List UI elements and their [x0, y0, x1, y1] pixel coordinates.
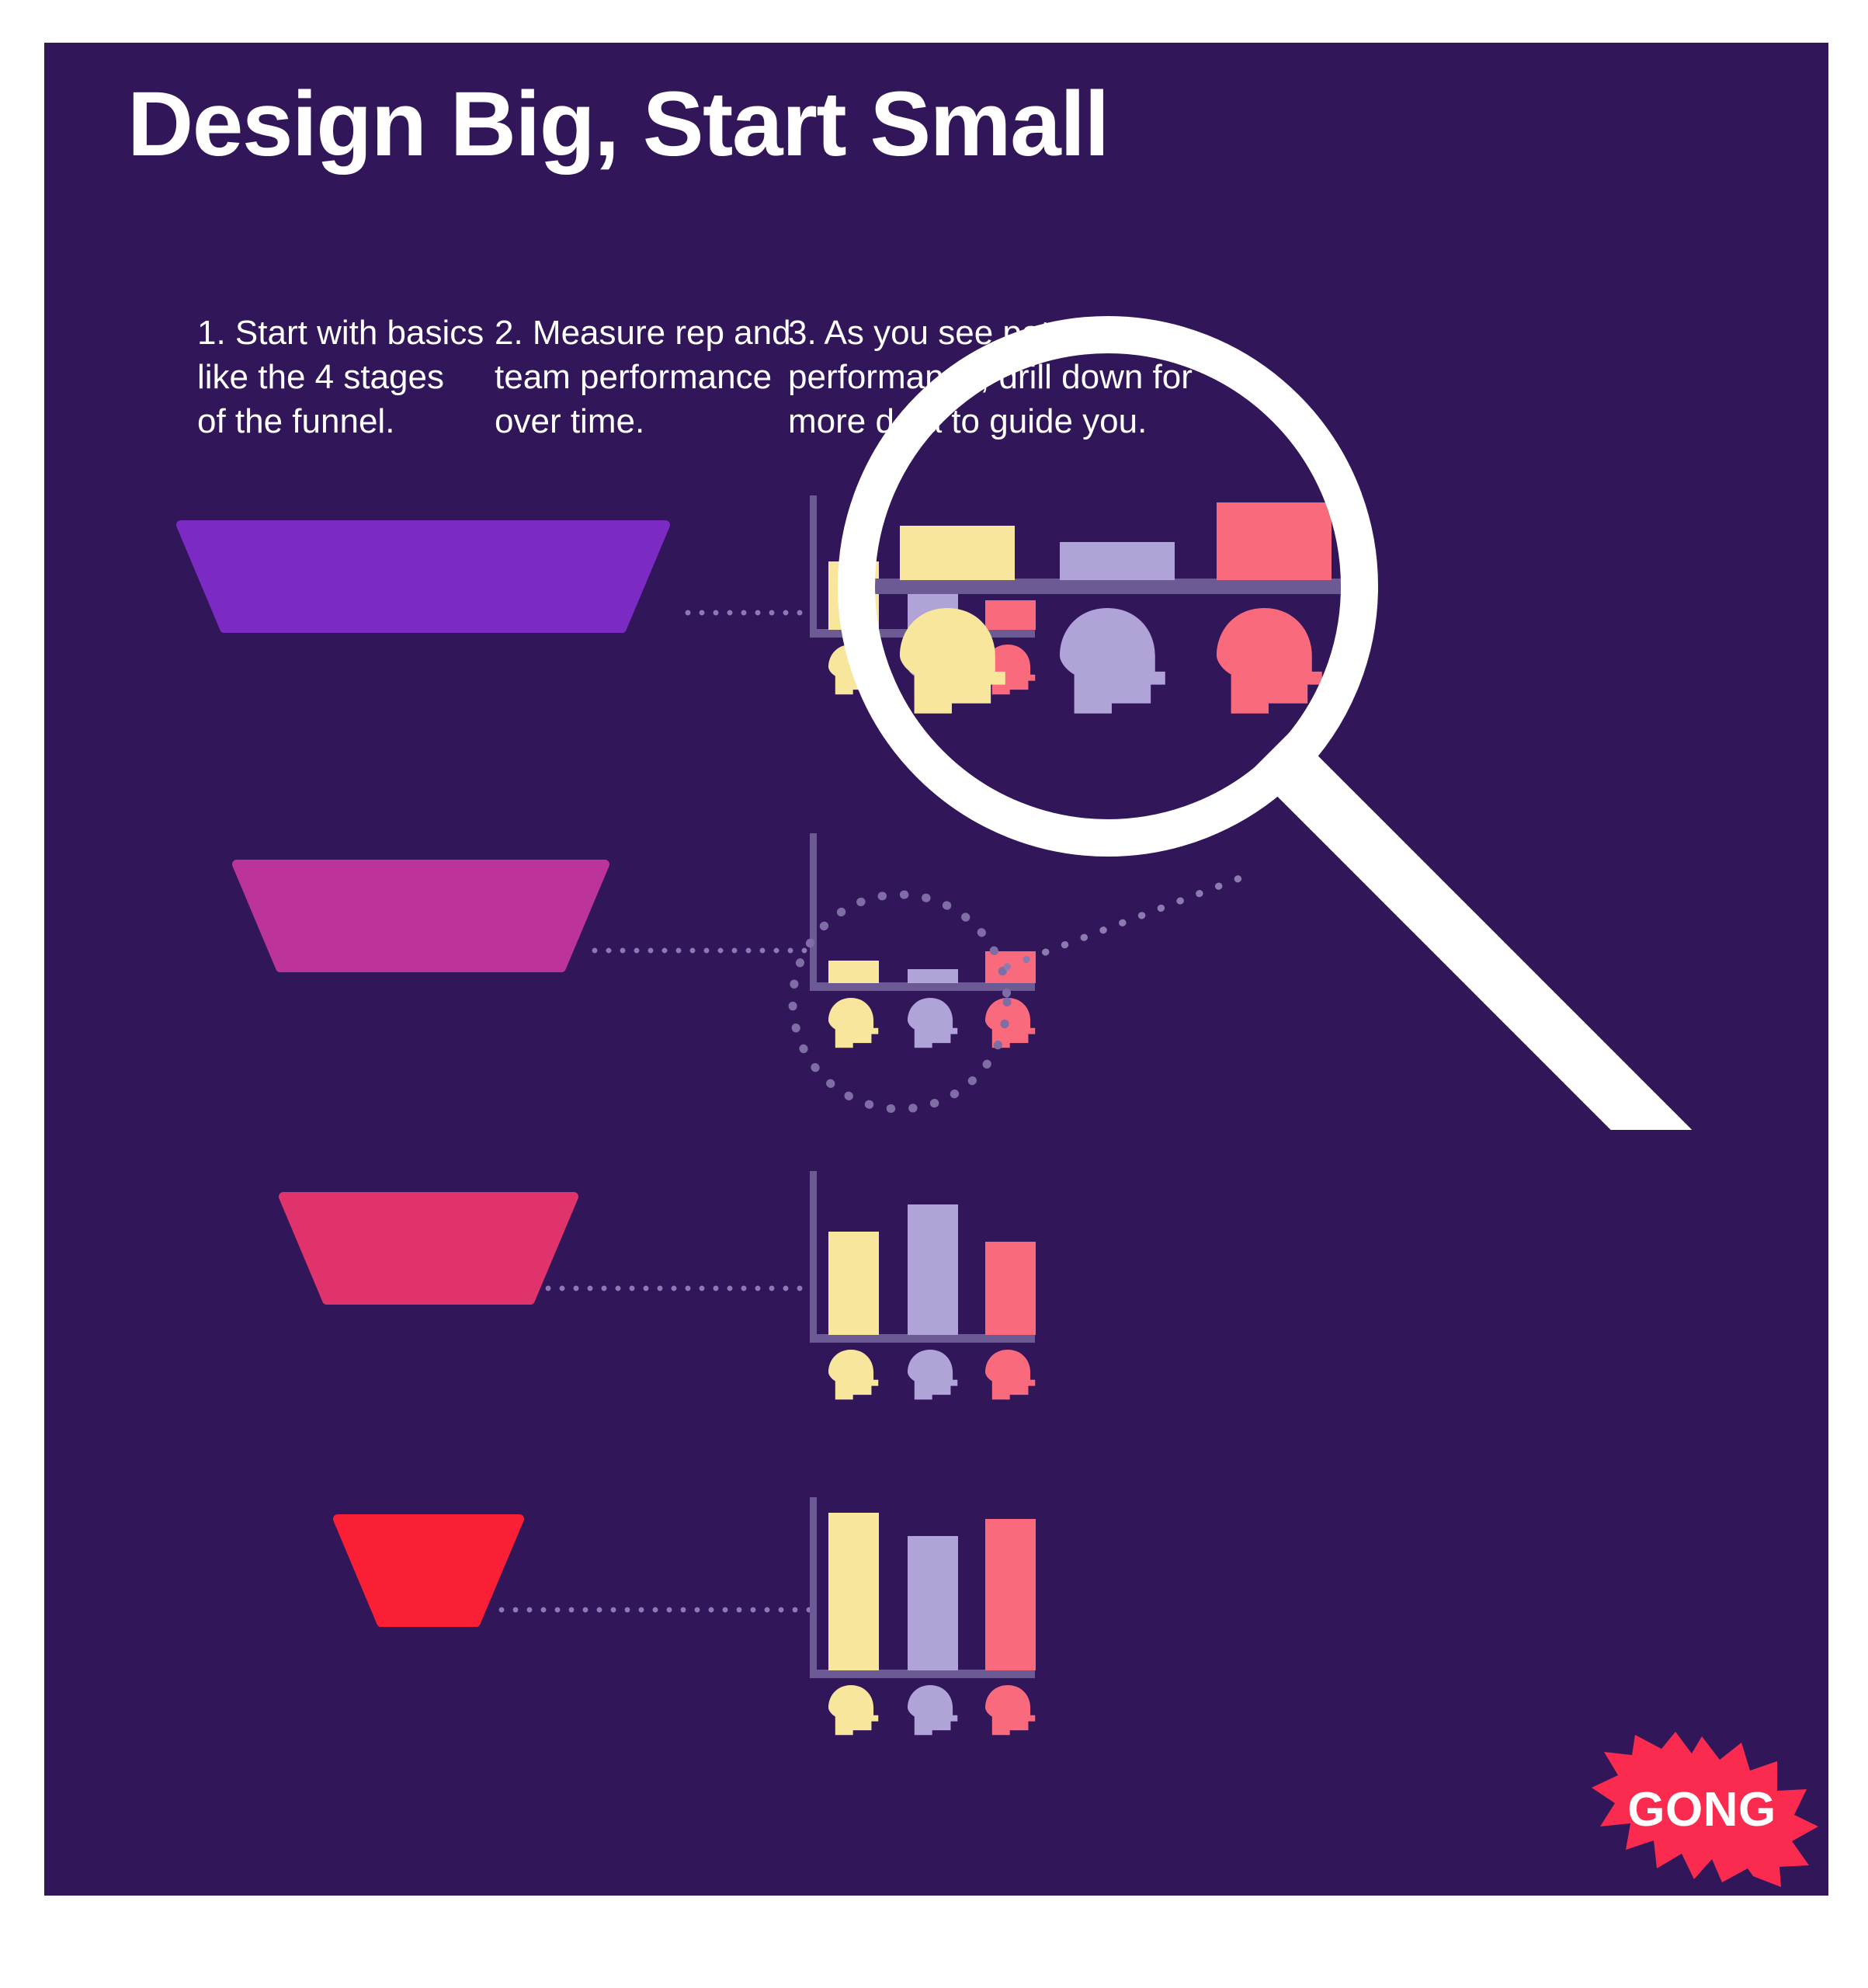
- bar-rep-b: [908, 1536, 958, 1670]
- page-title: Design Big, Start Small: [127, 78, 1109, 171]
- magnified-x-axis: [852, 579, 1380, 594]
- funnel-stage-1[interactable]: [175, 520, 672, 633]
- head-icon-rep-c: [985, 1350, 1035, 1399]
- magnifier-handle: [1272, 750, 1694, 1130]
- magnified-head-icon-rep-b: [1060, 608, 1165, 714]
- infographic-panel: Design Big, Start Small 1. Start with ba…: [44, 43, 1828, 1896]
- bar-chart-stage-3[interactable]: [794, 1165, 1074, 1429]
- funnel-stage-2[interactable]: [231, 860, 611, 972]
- magnified-head-icon-rep-c: [1217, 608, 1322, 714]
- magnifier-glass[interactable]: [727, 276, 1828, 1130]
- funnel-stage-4-shape: [338, 1519, 519, 1622]
- head-icon-rep-b: [908, 1685, 957, 1735]
- connector-line-stage-3: [541, 1285, 813, 1291]
- bar-rep-a: [828, 1232, 879, 1335]
- head-icon-rep-a: [828, 1350, 878, 1399]
- bar-rep-b: [908, 1204, 958, 1335]
- y-axis: [810, 1497, 817, 1676]
- y-axis: [810, 1171, 817, 1340]
- x-axis: [810, 1670, 1035, 1678]
- bar-rep-c: [985, 1519, 1036, 1670]
- screenshot-root: Design Big, Start Small 1. Start with ba…: [0, 0, 1868, 1988]
- funnel-stage-1-shape: [181, 525, 665, 628]
- bar-rep-c: [985, 1242, 1036, 1335]
- magnifier-content: [852, 502, 1380, 714]
- funnel-stage-3[interactable]: [277, 1192, 580, 1305]
- bar-chart-stage-4[interactable]: [794, 1483, 1074, 1747]
- magnified-bar-rep-b: [1060, 542, 1175, 580]
- funnel-stage-3-shape: [283, 1197, 574, 1300]
- bar-rep-a: [828, 1513, 879, 1670]
- magnified-bar-rep-c: [1217, 502, 1332, 580]
- funnel-stage-2-shape: [237, 864, 605, 968]
- magnified-head-icon-rep-a: [900, 608, 1005, 714]
- x-axis: [810, 1334, 1035, 1343]
- head-icon-rep-b: [908, 1350, 957, 1399]
- gong-logo[interactable]: GONG: [1585, 1732, 1818, 1887]
- gong-wordmark: GONG: [1585, 1732, 1818, 1887]
- head-icon-rep-c: [985, 1685, 1035, 1735]
- head-icon-rep-a: [828, 1685, 878, 1735]
- connector-line-stage-4: [495, 1607, 813, 1613]
- magnified-bar-rep-a: [900, 526, 1015, 580]
